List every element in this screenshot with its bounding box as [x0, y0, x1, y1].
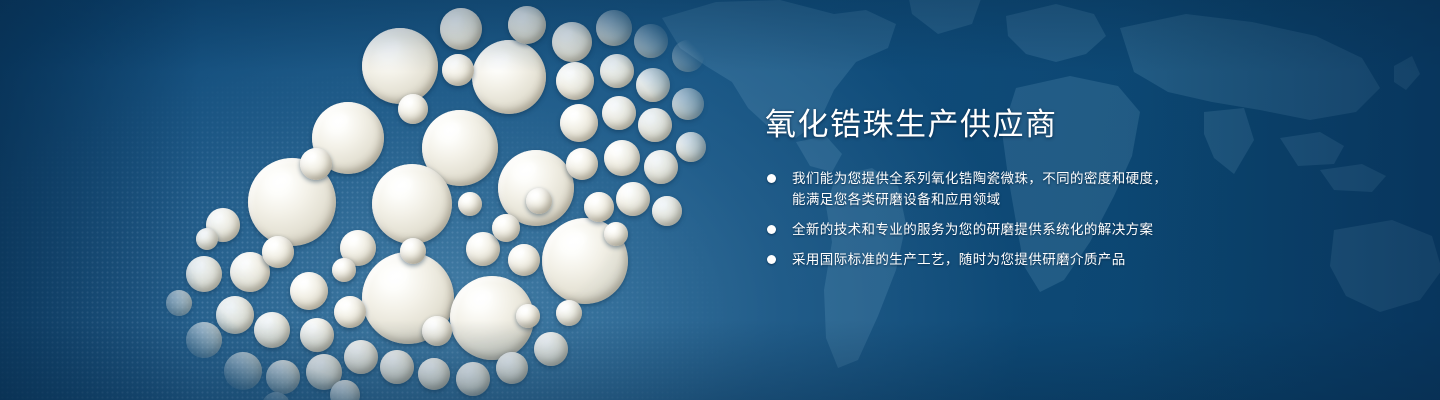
list-item-line: 采用国际标准的生产工艺，随时为您提供研磨介质产品	[792, 249, 1405, 270]
hero-banner: 氧化锆珠生产供应商 我们能为您提供全系列氧化锆陶瓷微珠，不同的密度和硬度， 能满…	[0, 0, 1440, 400]
list-item: 我们能为您提供全系列氧化锆陶瓷微珠，不同的密度和硬度， 能满足您各类研磨设备和应…	[765, 168, 1405, 210]
list-item-line: 全新的技术和专业的服务为您的研磨提供系统化的解决方案	[792, 219, 1405, 240]
page-title: 氧化锆珠生产供应商	[765, 108, 1405, 142]
banner-content: 氧化锆珠生产供应商 我们能为您提供全系列氧化锆陶瓷微珠，不同的密度和硬度， 能满…	[765, 108, 1405, 270]
bullet-dot-icon	[767, 225, 776, 234]
list-item: 采用国际标准的生产工艺，随时为您提供研磨介质产品	[765, 249, 1405, 270]
feature-list: 我们能为您提供全系列氧化锆陶瓷微珠，不同的密度和硬度， 能满足您各类研磨设备和应…	[765, 168, 1405, 270]
bullet-dot-icon	[767, 255, 776, 264]
list-item: 全新的技术和专业的服务为您的研磨提供系统化的解决方案	[765, 219, 1405, 240]
list-item-line: 能满足您各类研磨设备和应用领域	[792, 189, 1405, 210]
bullet-dot-icon	[767, 174, 776, 183]
list-item-line: 我们能为您提供全系列氧化锆陶瓷微珠，不同的密度和硬度，	[792, 168, 1405, 189]
